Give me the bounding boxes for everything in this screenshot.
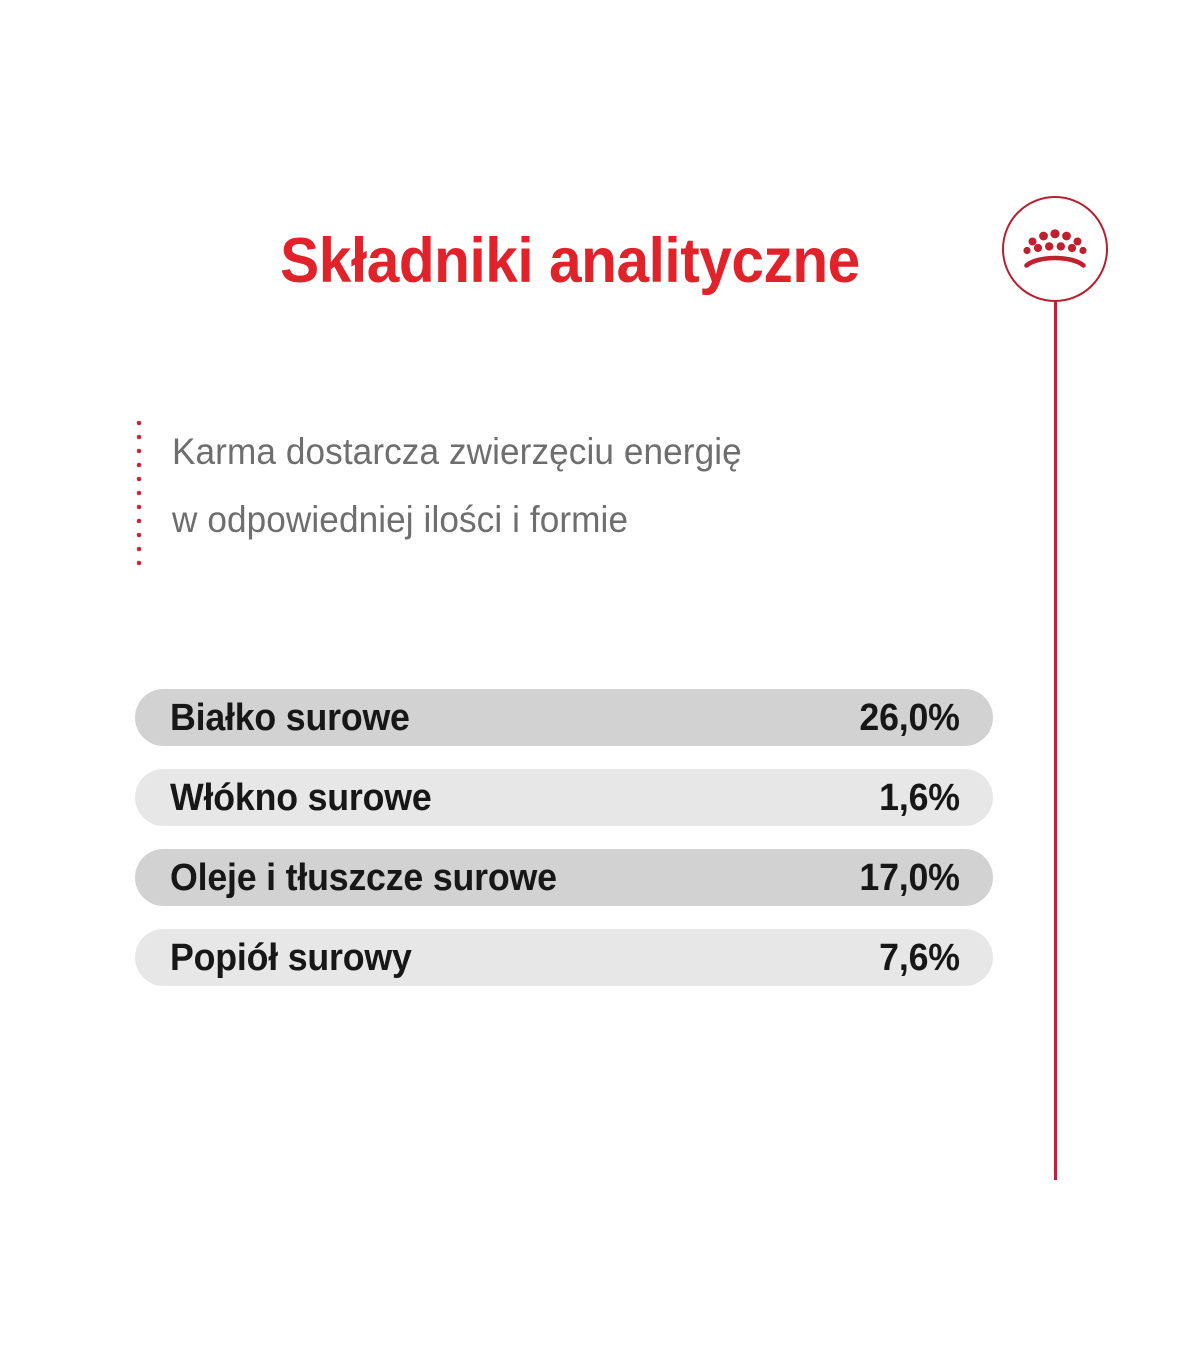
nutrient-label: Oleje i tłuszcze surowe [170, 859, 557, 897]
table-row: Popiół surowy 7,6% [135, 929, 993, 986]
nutrient-value: 17,0% [860, 859, 960, 897]
badge-stem-line [1054, 296, 1057, 1180]
page-title: Składniki analityczne [40, 228, 1100, 294]
table-row: Oleje i tłuszcze surowe 17,0% [135, 849, 993, 906]
subtitle-block: Karma dostarcza zwierzęciu energię w odp… [136, 418, 896, 570]
dotted-rule-decoration [136, 420, 142, 570]
nutrition-panel: Składniki analityczne Karma dostarcza zw… [0, 0, 1200, 1372]
nutrient-value: 26,0% [860, 699, 960, 737]
subtitle-line-1: Karma dostarcza zwierzęciu energię [172, 418, 742, 486]
brand-badge-group [1002, 196, 1114, 1186]
royal-canin-crown-icon [1020, 226, 1090, 274]
subtitle-text: Karma dostarcza zwierzęciu energię w odp… [172, 418, 742, 554]
nutrient-list: Białko surowe 26,0% Włókno surowe 1,6% O… [135, 689, 993, 986]
nutrient-value: 1,6% [879, 779, 960, 817]
table-row: Białko surowe 26,0% [135, 689, 993, 746]
table-row: Włókno surowe 1,6% [135, 769, 993, 826]
nutrient-label: Białko surowe [170, 699, 410, 737]
nutrient-label: Popiół surowy [170, 939, 412, 977]
subtitle-line-2: w odpowiedniej ilości i formie [172, 486, 742, 554]
nutrient-label: Włókno surowe [170, 779, 432, 817]
nutrient-value: 7,6% [879, 939, 960, 977]
